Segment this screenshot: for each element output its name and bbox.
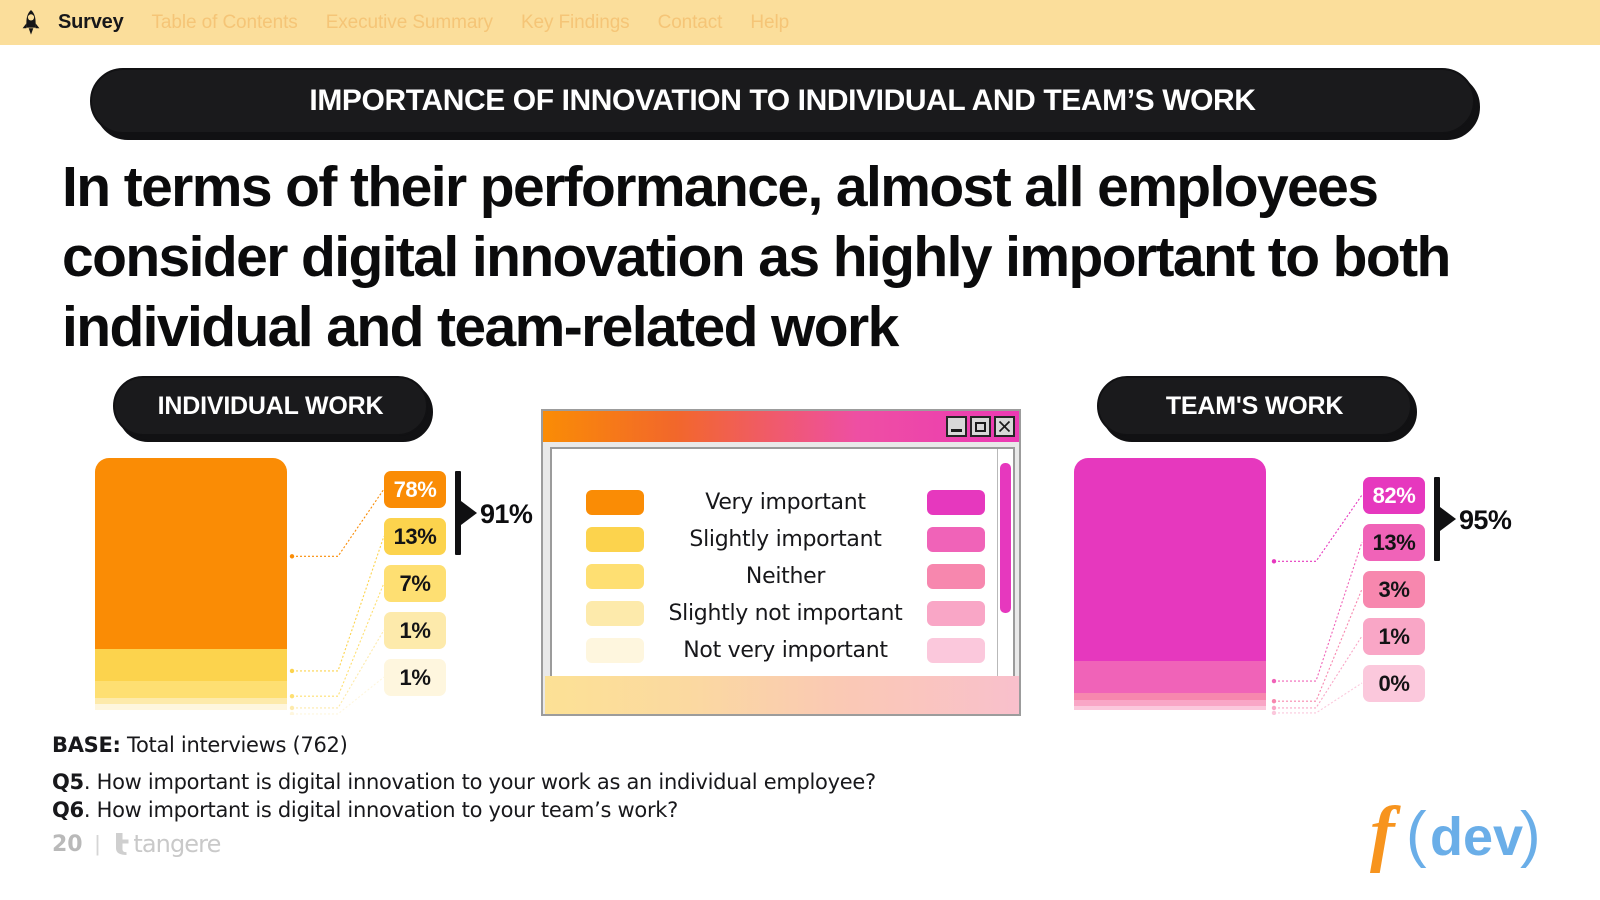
legend-row: Not very important [552, 632, 997, 669]
maximize-icon [975, 422, 986, 432]
legend-swatch-left [586, 601, 644, 626]
footnote-q6: Q6. How important is digital innovation … [52, 798, 876, 822]
nav-brand[interactable]: Survey [58, 11, 124, 34]
stacked-bar-individual-work [95, 458, 287, 710]
legend-swatch-left [586, 490, 644, 515]
legend-swatch-right [927, 527, 985, 552]
tangere-wordmark: tangere [133, 830, 220, 858]
slide-title-banner-body: IMPORTANCE OF INNOVATION TO INDIVIDUAL A… [90, 68, 1475, 134]
connector-dot [290, 694, 294, 698]
footnote-q6-text: . How important is digital innovation to… [84, 798, 678, 822]
connector-dot [290, 706, 294, 710]
section-pill-team-body: TEAM'S WORK [1097, 376, 1412, 436]
total-team: 95% [1459, 505, 1511, 536]
legend-window-titlebar[interactable] [543, 411, 1019, 442]
section-pill-individual-label: INDIVIDUAL WORK [158, 392, 384, 421]
connector-line [1274, 636, 1362, 708]
connector-lines-team [1270, 455, 1370, 715]
value-badge: 7% [384, 565, 446, 602]
footnote-base: BASE: Total interviews (762) [52, 733, 876, 757]
fdev-f-glyph: f [1370, 795, 1401, 873]
value-badge: 78% [384, 471, 446, 508]
bar-segment [95, 649, 287, 681]
legend-row: Very important [552, 484, 997, 521]
footnote-q5-label: Q5 [52, 770, 84, 794]
connector-line [1274, 589, 1362, 701]
minimize-button[interactable] [946, 416, 967, 437]
legend-label: Neither [644, 564, 927, 589]
page-footer: 20 | tangere [52, 830, 220, 858]
value-badge: 3% [1363, 571, 1425, 608]
legend-row: Slightly important [552, 521, 997, 558]
bracket-arrow-team [1440, 507, 1456, 531]
footnote-q6-label: Q6 [52, 798, 84, 822]
legend-scrollbar[interactable] [997, 449, 1013, 703]
connector-dot [1272, 559, 1276, 563]
rocket-icon [18, 8, 44, 38]
navbar: Survey Table of Contents Executive Summa… [0, 0, 1600, 45]
connector-line [1274, 542, 1362, 681]
legend-list: Very importantSlightly importantNeitherS… [552, 449, 997, 703]
page-number: 20 [52, 832, 83, 857]
legend-label: Very important [644, 490, 927, 515]
legend-label: Not very important [644, 638, 927, 663]
footnote-base-value: Total interviews (762) [121, 733, 348, 757]
connector-dot [1272, 706, 1276, 710]
section-pill-teams-work: TEAM'S WORK [1097, 376, 1412, 436]
bar-segment [95, 681, 287, 698]
fdev-dev-text: dev [1430, 807, 1523, 867]
connector-lines-individual [288, 455, 398, 715]
footnote-q5-text: . How important is digital innovation to… [84, 770, 876, 794]
legend-row: Neither [552, 558, 997, 595]
connector-line [292, 536, 384, 671]
legend-swatch-right [927, 601, 985, 626]
slide-root: Survey Table of Contents Executive Summa… [0, 0, 1600, 900]
legend-window-body: Very importantSlightly importantNeitherS… [550, 447, 1015, 705]
footnote-q5: Q5. How important is digital innovation … [52, 770, 876, 794]
nav-item-key-findings[interactable]: Key Findings [521, 12, 630, 34]
page-headline: In terms of their performance, almost al… [62, 152, 1552, 362]
legend-label: Slightly important [644, 527, 927, 552]
total-individual: 91% [480, 499, 532, 530]
value-badge: 13% [1363, 524, 1425, 561]
bar-segment [95, 458, 287, 649]
connector-line [292, 489, 384, 556]
bar-segment [1074, 693, 1266, 700]
value-badge: 1% [384, 659, 446, 696]
connector-dot [1272, 699, 1276, 703]
maximize-button[interactable] [970, 416, 991, 437]
connector-dot [290, 554, 294, 558]
connector-line [292, 630, 384, 708]
legend-scrollbar-thumb[interactable] [1000, 463, 1011, 613]
value-badge: 1% [1363, 618, 1425, 655]
value-badge: 82% [1363, 477, 1425, 514]
value-badge: 0% [1363, 665, 1425, 702]
connector-dot [1272, 711, 1276, 715]
footnote-base-label: BASE: [52, 733, 121, 757]
value-badge: 1% [384, 612, 446, 649]
stacked-bar-teams-work [1074, 458, 1266, 710]
bar-segment [95, 704, 287, 710]
nav-item-executive-summary[interactable]: Executive Summary [326, 12, 493, 34]
nav-item-help[interactable]: Help [750, 12, 789, 34]
bar-segment [1074, 661, 1266, 693]
nav-item-table-of-contents[interactable]: Table of Contents [152, 12, 298, 34]
legend-swatch-left [586, 638, 644, 663]
connector-line [292, 677, 384, 714]
legend-swatch-right [927, 490, 985, 515]
fdev-paren-close: ) [1520, 800, 1541, 869]
close-button[interactable] [994, 416, 1015, 437]
bar-segment [1074, 458, 1266, 661]
bar-segment [1074, 706, 1266, 710]
tangere-logo: tangere [112, 830, 220, 858]
section-pill-team-label: TEAM'S WORK [1166, 392, 1343, 421]
close-icon [998, 420, 1011, 433]
legend-swatch-left [586, 527, 644, 552]
legend-window-footer-gradient [545, 676, 1019, 714]
connector-dot [1272, 679, 1276, 683]
bracket-arrow-individual [461, 501, 477, 525]
legend-window: Very importantSlightly importantNeitherS… [541, 409, 1021, 716]
minimize-icon [951, 429, 962, 432]
tangere-mark-icon [112, 832, 132, 856]
slide-title-banner: IMPORTANCE OF INNOVATION TO INDIVIDUAL A… [90, 68, 1475, 134]
legend-label: Slightly not important [644, 601, 927, 626]
slide-title-text: IMPORTANCE OF INNOVATION TO INDIVIDUAL A… [309, 84, 1255, 118]
footer-separator: | [95, 831, 101, 857]
footnotes: BASE: Total interviews (762) Q5. How imp… [52, 733, 876, 826]
section-pill-individual-body: INDIVIDUAL WORK [113, 376, 428, 436]
fdev-paren-open: ( [1406, 800, 1427, 869]
section-pill-individual-work: INDIVIDUAL WORK [113, 376, 428, 436]
nav-item-contact[interactable]: Contact [658, 12, 723, 34]
fdev-logo: f ( dev ) [1368, 795, 1548, 878]
legend-swatch-right [927, 638, 985, 663]
connector-dot [290, 712, 294, 715]
connector-dot [290, 669, 294, 673]
value-badge: 13% [384, 518, 446, 555]
connector-line [292, 583, 384, 696]
legend-swatch-right [927, 564, 985, 589]
connector-line [1274, 683, 1362, 713]
connector-line [1274, 495, 1362, 561]
legend-swatch-left [586, 564, 644, 589]
legend-row: Slightly not important [552, 595, 997, 632]
